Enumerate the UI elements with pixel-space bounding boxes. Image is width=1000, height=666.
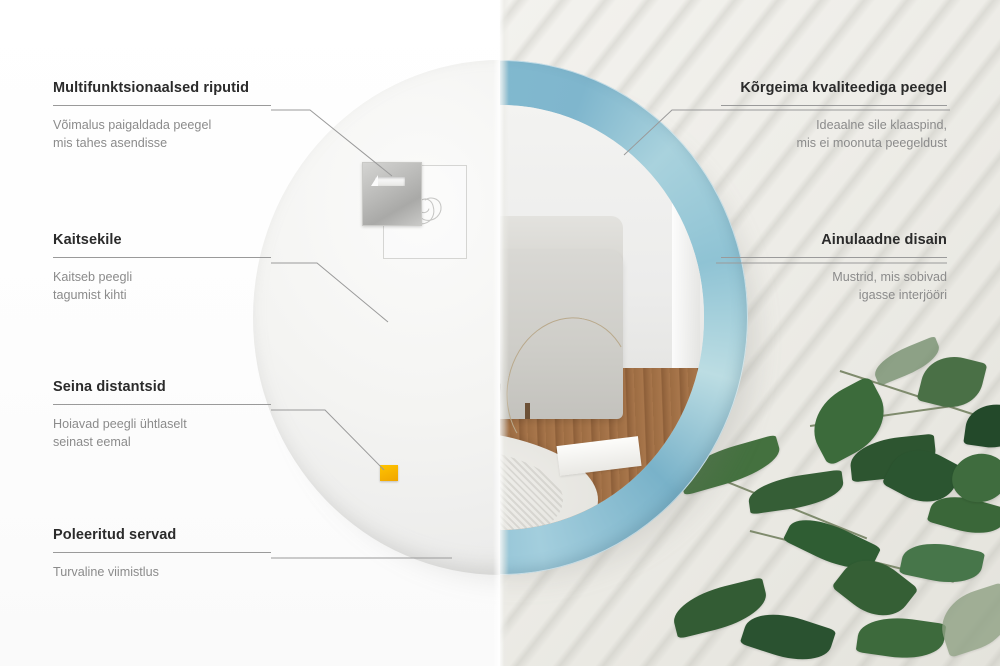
callout-rule: [53, 404, 271, 405]
callout-body: Kaitseb peegli tagumist kihti: [53, 268, 271, 305]
callout-title: Seina distantsid: [53, 379, 271, 395]
callout-body: Võimalus paigaldada peegel mis tahes ase…: [53, 116, 271, 153]
callout-body: Ideaalne sile klaaspind, mis ei moonuta …: [721, 116, 947, 153]
callout-title: Ainulaadne disain: [721, 232, 947, 248]
callout-polished-edges: Poleeritud servad Turvaline viimistlus: [53, 527, 271, 581]
hanger-plate: [362, 162, 422, 226]
keyhole-slot: [375, 177, 405, 186]
callout-body: Hoiavad peegli ühtlaselt seinast eemal: [53, 415, 271, 452]
callout-title: Kaitsekile: [53, 232, 271, 248]
yellow-spacer: [380, 465, 398, 481]
callout-title: Kõrgeima kvaliteediga peegel: [721, 80, 947, 96]
callout-highest-quality-mirror: Kõrgeima kvaliteediga peegel Ideaalne si…: [721, 80, 947, 153]
callout-body: Mustrid, mis sobivad igasse interjööri: [721, 268, 947, 305]
callout-protective-film: Kaitsekile Kaitseb peegli tagumist kihti: [53, 232, 271, 305]
callout-body: Turvaline viimistlus: [53, 563, 271, 581]
door-frame: [672, 105, 701, 402]
product-infographic: Multifunktsionaalsed riputid Võimalus pa…: [0, 0, 1000, 666]
callout-rule: [53, 105, 271, 106]
callout-title: Multifunktsionaalsed riputid: [53, 80, 271, 96]
panel-seam-divider: [493, 0, 509, 666]
callout-unique-design: Ainulaadne disain Mustrid, mis sobivad i…: [721, 232, 947, 305]
callout-rule: [53, 552, 271, 553]
callout-rule: [721, 105, 947, 106]
callout-title: Poleeritud servad: [53, 527, 271, 543]
callout-multifunctional-hangers: Multifunktsionaalsed riputid Võimalus pa…: [53, 80, 271, 153]
callout-rule: [721, 257, 947, 258]
callout-rule: [53, 257, 271, 258]
callout-wall-spacers: Seina distantsid Hoiavad peegli ühtlasel…: [53, 379, 271, 452]
